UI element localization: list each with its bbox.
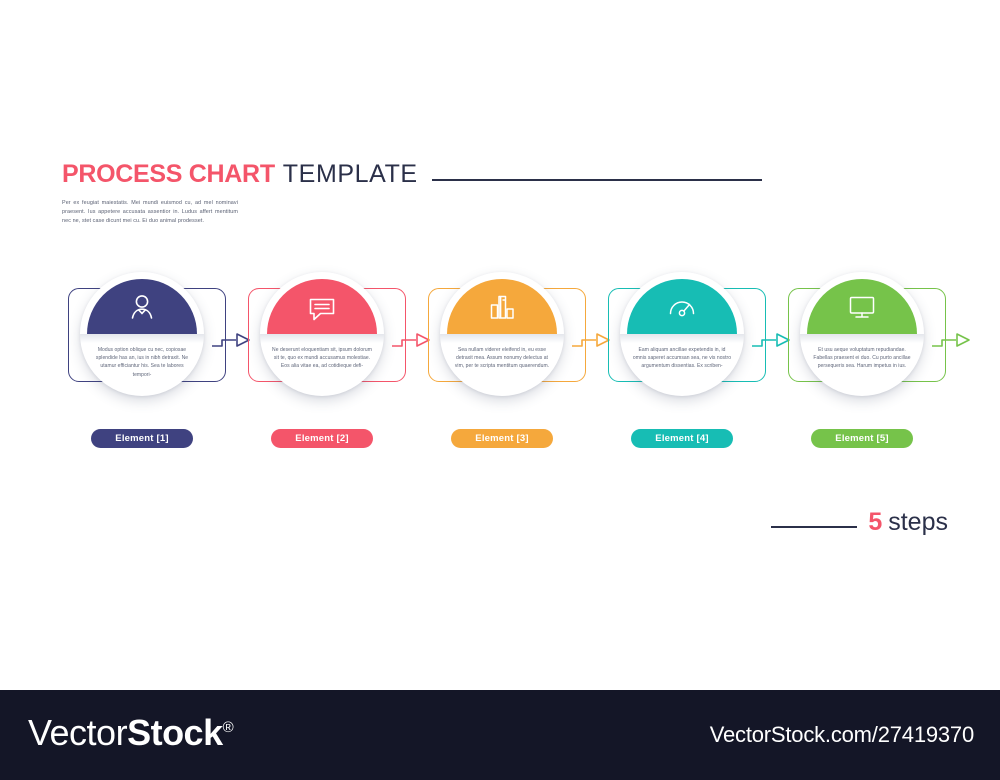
page-title-strong: PROCESS CHART [62, 160, 275, 189]
title-rule [432, 179, 762, 181]
gauge-icon [665, 290, 699, 324]
disc-shelf [260, 334, 384, 343]
step-body-text: Ne deserunt eloquentiam sit, ipsum dolor… [272, 346, 372, 371]
step-icon-cap [447, 279, 557, 334]
step-label-text: Element [5] [835, 433, 888, 444]
disc-shelf [800, 334, 924, 343]
step-label-pill[interactable]: Element [1] [91, 429, 193, 448]
step-icon-cap [87, 279, 197, 334]
page-title-light: TEMPLATE [283, 160, 418, 189]
header: PROCESS CHART TEMPLATE Per ex feugiat ma… [62, 160, 722, 227]
logo-suffix: Stock [127, 712, 223, 753]
steps-count-number: 5 [868, 508, 882, 537]
title-row: PROCESS CHART TEMPLATE [62, 160, 722, 189]
step-label-text: Element [3] [475, 433, 528, 444]
step-label-pill[interactable]: Element [2] [271, 429, 373, 448]
step-disc: Eam aliquam ancillae expetendis in, id o… [620, 272, 744, 396]
disc-shelf [440, 334, 564, 343]
steps-note-rule [771, 526, 857, 528]
bar-chart-icon [485, 290, 519, 324]
disc-shelf [620, 334, 744, 343]
step-body-text: Et usu aeque voluptatum repudiandae. Fab… [812, 346, 912, 371]
step-label-text: Element [2] [295, 433, 348, 444]
infographic-canvas: PROCESS CHART TEMPLATE Per ex feugiat ma… [0, 0, 1000, 690]
step-body-text: Sea nullam viderer eleifend in, eu esse … [452, 346, 552, 371]
step-item-2[interactable]: Ne deserunt eloquentiam sit, ipsum dolor… [242, 262, 422, 462]
step-body-text: Eam aliquam ancillae expetendis in, id o… [632, 346, 732, 371]
step-label-text: Element [1] [115, 433, 168, 444]
step-item-1[interactable]: Modus option oblique cu nec, copiosae sp… [62, 262, 242, 462]
watermark-url: VectorStock.com/27419370 [710, 722, 974, 748]
step-label-pill[interactable]: Element [5] [811, 429, 913, 448]
step-icon-cap [267, 279, 377, 334]
step-label-pill[interactable]: Element [3] [451, 429, 553, 448]
steps-row: Modus option oblique cu nec, copiosae sp… [0, 262, 1000, 462]
step-label-text: Element [4] [655, 433, 708, 444]
step-disc: Modus option oblique cu nec, copiosae sp… [80, 272, 204, 396]
connector-arrow-5 [932, 328, 976, 352]
step-item-5[interactable]: Et usu aeque voluptatum repudiandae. Fab… [782, 262, 962, 462]
step-icon-cap [627, 279, 737, 334]
monitor-icon [845, 290, 879, 324]
watermark-bar: VectorStock® VectorStock.com/27419370 [0, 690, 1000, 780]
step-disc: Et usu aeque voluptatum repudiandae. Fab… [800, 272, 924, 396]
step-disc: Ne deserunt eloquentiam sit, ipsum dolor… [260, 272, 384, 396]
step-item-3[interactable]: Sea nullam viderer eleifend in, eu esse … [422, 262, 602, 462]
vectorstock-logo: VectorStock® [28, 712, 233, 754]
step-item-4[interactable]: Eam aliquam ancillae expetendis in, id o… [602, 262, 782, 462]
user-icon [125, 290, 159, 324]
steps-count-word: steps [888, 508, 948, 537]
disc-shelf [80, 334, 204, 343]
subtitle-text: Per ex feugiat maiestatis. Mei mundi eui… [62, 199, 238, 227]
step-body-text: Modus option oblique cu nec, copiosae sp… [92, 346, 192, 379]
step-icon-cap [807, 279, 917, 334]
steps-count-note: 5 steps [771, 508, 948, 537]
step-disc: Sea nullam viderer eleifend in, eu esse … [440, 272, 564, 396]
logo-prefix: Vector [28, 712, 127, 753]
registered-mark-icon: ® [223, 719, 234, 736]
chat-bubble-icon [305, 290, 339, 324]
step-label-pill[interactable]: Element [4] [631, 429, 733, 448]
